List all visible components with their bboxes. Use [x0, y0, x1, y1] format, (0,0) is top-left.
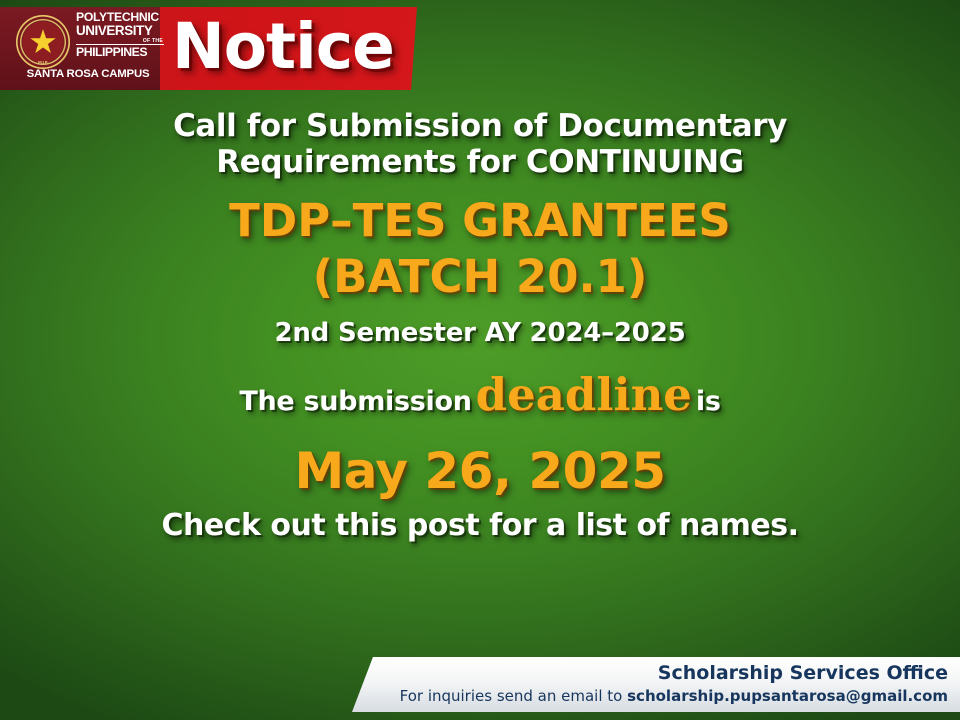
call-for-submission-line: Call for Submission of Documentary Requi… — [0, 108, 960, 180]
check-post-line: Check out this post for a list of names. — [0, 507, 960, 545]
university-name: POLYTECHNIC UNIVERSITY OF THE PHILIPPINE… — [76, 11, 164, 58]
semester-line: 2nd Semester AY 2024–2025 — [0, 316, 960, 350]
university-name-line2: UNIVERSITY — [76, 24, 164, 37]
footer-content: Scholarship Services Office For inquirie… — [352, 657, 956, 712]
star-glyph: ★ — [28, 26, 59, 57]
deadline-prefix: The submission — [239, 386, 471, 417]
campus-label: SANTA ROSA CAMPUS — [12, 68, 164, 80]
deadline-date: May 26, 2025 — [0, 441, 960, 501]
pup-seal-star-icon: ★ PUP — [16, 15, 70, 69]
deadline-word: deadline — [472, 368, 696, 421]
deadline-line: The submissiondeadlineis — [0, 372, 960, 429]
footer-inquiry-line: For inquiries send an email to scholarsh… — [352, 686, 948, 707]
footer-office-name: Scholarship Services Office — [352, 657, 948, 686]
poster-body: Call for Submission of Documentary Requi… — [0, 108, 960, 545]
footer-inquiry-prefix: For inquiries send an email to — [400, 687, 623, 705]
notice-poster: ★ PUP POLYTECHNIC UNIVERSITY OF THE PHIL… — [0, 0, 960, 720]
notice-title: Notice — [172, 8, 394, 86]
university-name-line3: PHILIPPINES — [76, 46, 164, 58]
batch-headline: (BATCH 20.1) — [0, 248, 960, 306]
grantees-headline: TDP–TES GRANTEES — [0, 192, 960, 250]
footer-email: scholarship.pupsantarosa@gmail.com — [627, 687, 948, 705]
university-name-line1: POLYTECHNIC — [76, 11, 164, 23]
seal-ring-label: PUP — [16, 60, 70, 65]
deadline-suffix: is — [696, 386, 721, 417]
